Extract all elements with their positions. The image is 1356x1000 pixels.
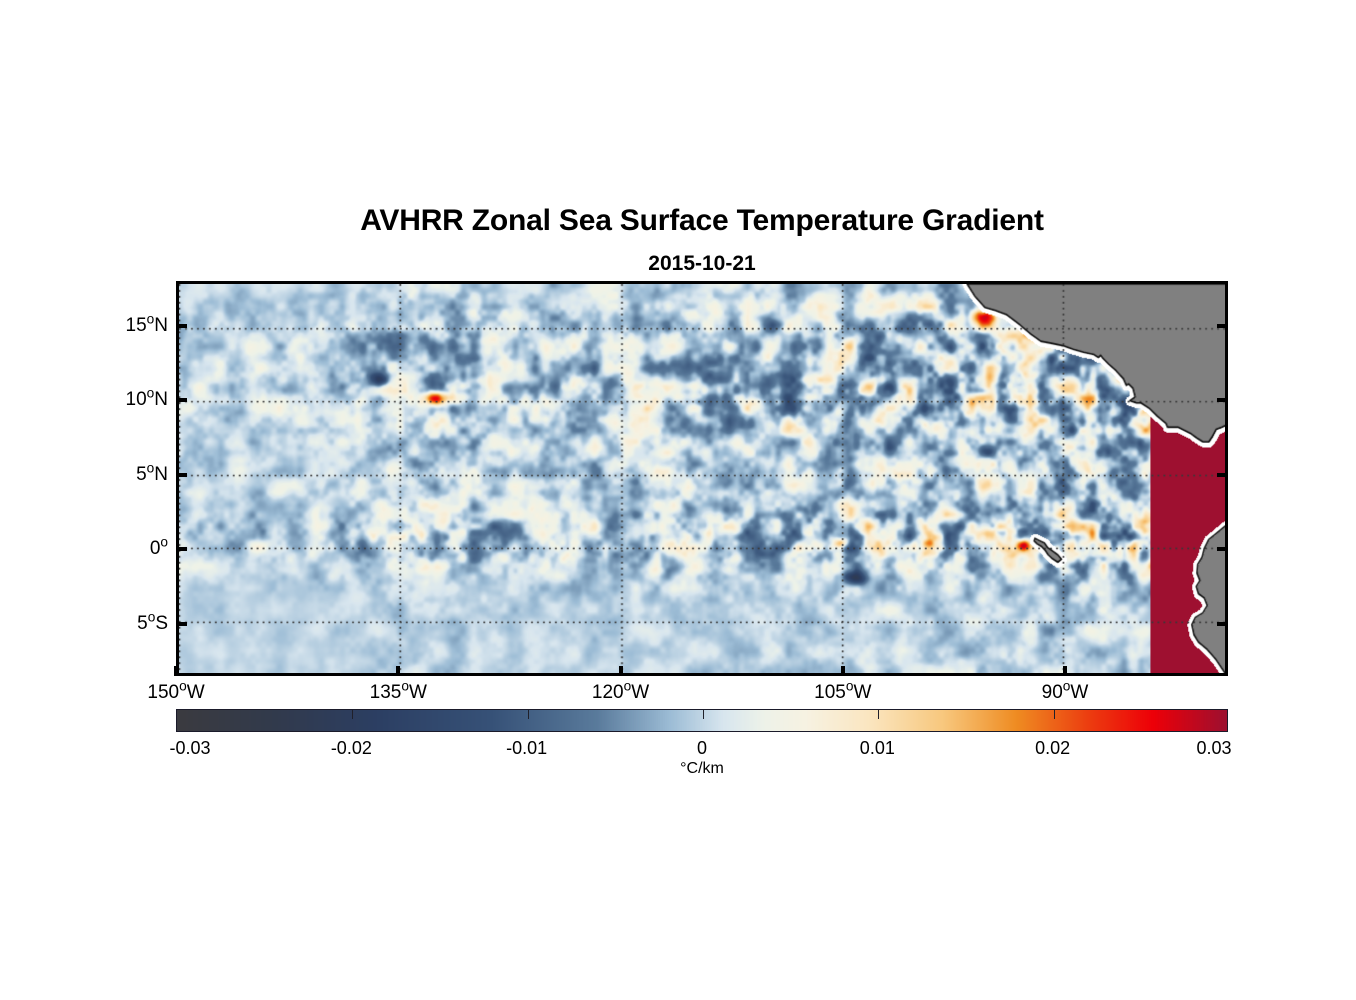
figure-container: AVHRR Zonal Sea Surface Temperature Grad… [0,0,1356,1000]
y-tick-label-0: 15oN [126,315,168,337]
colorbar-tick-label-2: -0.01 [506,738,547,759]
y-tick-mark-2-right [1217,473,1228,477]
coastline-and-grid-overlay [179,284,1225,673]
x-tick-mark-4 [1063,666,1067,676]
x-tick-mark-1 [396,666,400,676]
figure-subtitle-date: 2015-10-21 [176,252,1228,276]
x-tick-mark-0 [174,666,178,676]
y-tick-mark-2-left [176,473,187,477]
colorbar-tick-4 [878,710,879,719]
colorbar-tick-3 [703,710,704,719]
y-tick-mark-3-right [1217,547,1228,551]
x-tick-mark-3 [841,666,845,676]
colorbar-tick-label-1: -0.02 [331,738,372,759]
x-tick-label-1: 135oW [370,682,427,704]
x-tick-label-3: 105oW [814,682,871,704]
colorbar-tick-label-0: -0.03 [169,738,210,759]
colorbar-tick-label-3: 0 [697,738,707,759]
y-tick-mark-1-left [176,398,187,402]
x-tick-mark-2 [619,666,623,676]
colorbar-tick-label-5: 0.02 [1035,738,1070,759]
x-tick-label-2: 120oW [592,682,649,704]
x-tick-label-4: 90oW [1042,682,1089,704]
colorbar-tick-5 [1054,710,1055,719]
colorbar-tick-label-4: 0.01 [860,738,895,759]
page-title: AVHRR Zonal Sea Surface Temperature Grad… [176,204,1228,238]
y-tick-label-4: 5oS [137,613,168,635]
y-tick-label-3: 0o [150,538,168,560]
colorbar-tick-label-6: 0.03 [1196,738,1231,759]
colorbar-gradient [177,710,1227,731]
y-tick-mark-3-left [176,547,187,551]
y-tick-mark-1-right [1217,398,1228,402]
y-tick-mark-4-right [1217,622,1228,626]
colorbar-tick-1 [352,710,353,719]
colorbar[interactable] [176,709,1228,732]
y-tick-label-1: 10oN [126,389,168,411]
colorbar-unit-label: °C/km [176,760,1228,778]
y-tick-mark-0-left [176,324,187,328]
x-tick-label-0: 150oW [147,682,204,704]
y-tick-mark-4-left [176,622,187,626]
y-tick-label-2: 5oN [136,464,168,486]
map-axes[interactable] [176,281,1228,676]
y-tick-mark-0-right [1217,324,1228,328]
colorbar-tick-2 [528,710,529,719]
